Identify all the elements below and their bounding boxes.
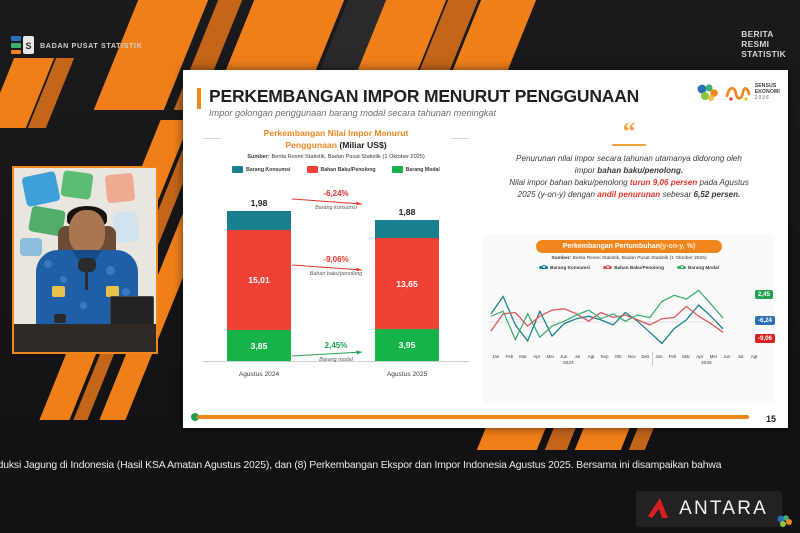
bar-chart-title-line1: Perkembangan Nilai Impor Menurut <box>264 128 409 138</box>
month-tick-label: Jan <box>489 354 503 359</box>
line-chart-panel: Perkembangan Pertumbuhan (y-on-y, %) Sum… <box>483 234 775 404</box>
legend-label: Barang Konsumsi <box>246 167 290 173</box>
bar-segment-bahan-baku: 15,01 <box>227 230 291 330</box>
month-ticks-2024: JanFebMarAprMeiJunJulAgtSepOktNovDes <box>489 354 652 359</box>
source-text: Berita Resmi Statistik, Badan Pusat Stat… <box>571 256 706 261</box>
month-tick-label: Feb <box>503 354 517 359</box>
series-line-barang-konsumsi <box>491 297 723 344</box>
insight-line-2a: impor <box>575 166 598 175</box>
legend-item-bahan-baku: Bahan Baku/Penolong <box>307 166 376 173</box>
arrow-down-icon <box>290 198 370 205</box>
month-tick-label: Jun <box>557 354 571 359</box>
month-tick-label: Feb <box>666 354 680 359</box>
bar-segment-barang-modal: 3,85 <box>227 330 291 361</box>
bar-chart-legend: Barang Konsumsi Bahan Baku/Penolong Bara… <box>197 166 475 173</box>
laptop <box>110 296 154 326</box>
month-tick-label: Nov <box>625 354 639 359</box>
ticker-text: oduksi Jagung di Indonesia (Hasil KSA Am… <box>0 460 800 471</box>
insight-text: Penurunan nilai impor secara tahunan uta… <box>483 153 775 202</box>
bar-segment-bahan-baku: 13,65 <box>375 238 439 329</box>
presentation-slide: PERKEMBANGAN IMPOR MENURUT PENGGUNAAN Im… <box>183 70 788 428</box>
insight-line-2b: bahan baku/penolong. <box>597 166 683 175</box>
insight-highlight-andil: andil penurunan <box>597 190 660 199</box>
quote-mark-icon: “ <box>483 122 775 142</box>
month-tick-label: Mei <box>543 354 557 359</box>
month-tick-label: Mar <box>516 354 530 359</box>
source-text: Berita Resmi Statistik, Badan Pusat Stat… <box>270 154 425 160</box>
wall-art <box>105 173 136 204</box>
line-chart-svg <box>489 278 725 352</box>
annotation-value: -9,06% <box>290 255 382 264</box>
speaker-video-thumbnail[interactable] <box>12 166 158 354</box>
wall-art <box>113 211 139 243</box>
insight-line-3b: pada Agustus <box>697 178 748 187</box>
se-year: 2026 <box>755 96 780 102</box>
speaker-head <box>69 210 105 254</box>
bar-segment-barang-modal: 3,95 <box>375 329 439 361</box>
legend-item-barang-konsumsi: Barang Konsumsi <box>232 166 290 173</box>
bar-chart-title-unit: (Miliar US$) <box>339 140 386 150</box>
legend-label: Barang Modal <box>406 167 440 173</box>
broadcast-frame: S BADAN PUSAT STATISTIK BERITA RESMI STA… <box>0 0 800 533</box>
shirt-pattern <box>122 288 130 296</box>
line-chart-title-plain: Perkembangan Pertumbuhan <box>563 243 660 250</box>
shirt-pattern <box>44 260 52 268</box>
legend-marker-icon <box>539 266 548 269</box>
bar-group-agustus-2024: 1,98 15,01 3,85 Agustus 2024 <box>227 211 291 361</box>
bps-wordmark: BADAN PUSAT STATISTIK <box>40 41 142 50</box>
shirt-pattern <box>60 276 67 283</box>
legend-item-barang-modal: Barang Modal <box>392 166 440 173</box>
wall-art <box>21 171 60 207</box>
annotation-value: -6,24% <box>290 189 382 198</box>
line-chart-source: Sumber: Berita Resmi Statistik, Badan Pu… <box>483 256 775 261</box>
annotation-caption: Bahan baku/penolong <box>290 271 382 277</box>
bps-logo-icon <box>695 82 721 104</box>
month-tick-label: Mar <box>679 354 693 359</box>
insight-line-4b: sebesar <box>660 190 693 199</box>
bar-segment-value: 15,01 <box>248 275 270 285</box>
annotation-value: 2,45% <box>290 341 382 350</box>
insight-line-1: Penurunan nilai impor secara tahunan uta… <box>516 154 742 163</box>
wristwatch <box>54 314 66 323</box>
bar-group-agustus-2025: 1,88 13,65 3,95 Agustus 2025 <box>375 220 439 361</box>
shirt-pattern <box>80 302 87 309</box>
slide-logo-group: SENSUS EKONOMI 2026 <box>695 82 780 104</box>
month-tick-label: Jun <box>720 354 734 359</box>
month-tick-row: JanFebMarAprMeiJunJulAgtSepOktNovDes Jan… <box>489 354 769 359</box>
bar-chart-panel: Perkembangan Nilai Impor Menurut Penggun… <box>197 128 475 410</box>
antara-watermark: ANTARA <box>636 491 782 527</box>
brs-line-3: STATISTIK <box>741 50 786 60</box>
bar-segment-barang-konsumsi <box>227 211 291 230</box>
annotation-caption: Barang konsumsi <box>290 205 382 211</box>
bar-chart-header: Perkembangan Nilai Impor Menurut Penggun… <box>197 128 475 173</box>
legend-label: Bahan Baku/Penolong <box>321 167 376 173</box>
month-tick-label: Apr <box>693 354 707 359</box>
annotation-bahan-baku: -9,06% Bahan baku/penolong <box>290 255 382 277</box>
annotation-barang-modal: 2,45% Barang modal <box>290 341 382 363</box>
bar-segment-value: 3,85 <box>251 341 268 351</box>
legend-label: Barang Modal <box>688 265 719 270</box>
channel-chip-icon <box>776 514 794 529</box>
legend-swatch-icon <box>307 166 318 173</box>
source-label: Sumber: <box>551 256 571 261</box>
title-accent-bar <box>197 88 201 109</box>
line-chart-legend: Barang Konsumsi Bahan Baku/Penolong Bara… <box>483 265 775 270</box>
legend-swatch-icon <box>392 166 403 173</box>
antara-wordmark: ANTARA <box>679 498 768 520</box>
legend-swatch-icon <box>232 166 243 173</box>
news-ticker: oduksi Jagung di Indonesia (Hasil KSA Am… <box>0 450 800 533</box>
svg-text:S: S <box>25 41 31 51</box>
shirt-pattern <box>106 266 115 275</box>
page-subtitle: Impor golongan penggunaan barang modal s… <box>209 108 496 118</box>
end-label-barang-modal: 2,45 <box>755 290 773 299</box>
bar-segment-value: 13,65 <box>396 279 418 289</box>
insight-line-4a: 2025 (y-on-y) dengan <box>518 190 598 199</box>
bar-segment-barang-konsumsi <box>375 220 439 238</box>
microphone-icon <box>78 258 96 272</box>
arrow-up-icon <box>290 350 370 357</box>
sensus-ekonomi-logo-icon <box>725 82 751 104</box>
legend-marker-icon <box>603 266 612 269</box>
month-tick-label: Apr <box>530 354 544 359</box>
bps-logo-icon: S <box>10 34 36 56</box>
month-tick-label: Des <box>639 354 653 359</box>
annotation-caption: Barang modal <box>290 357 382 363</box>
bar-category-label: Agustus 2024 <box>227 371 291 378</box>
series-line-bahan-baku <box>491 306 723 332</box>
bar-top-value: 1,98 <box>227 198 291 208</box>
bar-top-value: 1,88 <box>375 207 439 217</box>
month-tick-label: Jan <box>652 354 666 359</box>
uniform-badge <box>52 286 65 297</box>
bar-chart-source: Sumber: Berita Resmi Statistik, Badan Pu… <box>197 154 475 160</box>
line-chart-axis: JanFebMarAprMeiJunJulAgtSepOktNovDes Jan… <box>489 354 769 371</box>
footer-progress-bar <box>197 415 749 419</box>
source-label: Sumber: <box>247 154 270 160</box>
bar-chart-title-line2: Penggunaan <box>285 140 339 150</box>
legend-item-barang-modal: Barang Modal <box>677 265 719 270</box>
month-tick-label: Jul <box>571 354 585 359</box>
month-tick-label: Okt <box>611 354 625 359</box>
arrow-down-icon <box>290 264 370 271</box>
bar-segment-value: 3,95 <box>399 340 416 350</box>
bar-chart-title: Perkembangan Nilai Impor Menurut Penggun… <box>197 128 475 151</box>
legend-item-barang-konsumsi: Barang Konsumsi <box>539 265 590 270</box>
legend-label: Bahan Baku/Penolong <box>614 265 664 270</box>
month-tick-label: Agt <box>747 354 761 359</box>
line-chart-title: Perkembangan Pertumbuhan (y-on-y, %) <box>536 240 722 253</box>
page-title: PERKEMBANGAN IMPOR MENURUT PENGGUNAAN <box>209 86 639 107</box>
insight-line-3a: Nilai impor bahan baku/penolong <box>509 178 630 187</box>
year-label-2025: 2025 <box>701 361 712 366</box>
month-tick-label: Sep <box>598 354 612 359</box>
month-tick-label: Agt <box>584 354 598 359</box>
legend-label: Barang Konsumsi <box>550 265 590 270</box>
desk <box>14 324 158 354</box>
insight-line-4c: 6,52 persen. <box>694 190 741 199</box>
line-chart-title-accent: (y-on-y, %) <box>660 243 695 250</box>
header-rule-right <box>451 138 469 139</box>
header-rule-left <box>203 138 221 139</box>
brs-wordmark: BERITA RESMI STATISTIK <box>741 30 786 60</box>
end-label-barang-konsumsi: -6,24 <box>755 316 775 325</box>
insight-highlight-turun: turun 9,06 persen <box>630 178 697 187</box>
end-label-bahan-baku: -9,06 <box>755 334 775 343</box>
month-tick-label: Jul <box>734 354 748 359</box>
month-ticks-2025: JanFebMarAprMeiJunJulAgt <box>652 354 761 359</box>
slide-page-number: 15 <box>766 414 776 424</box>
legend-item-bahan-baku: Bahan Baku/Penolong <box>603 265 664 270</box>
wall-art <box>20 238 42 256</box>
bar-category-label: Agustus 2025 <box>375 371 439 378</box>
antara-logo-icon <box>646 496 672 522</box>
legend-marker-icon <box>677 266 686 269</box>
annotation-barang-konsumsi: -6,24% Barang konsumsi <box>290 189 382 211</box>
wall-art <box>60 170 93 200</box>
line-chart-plot: 2,45 -6,24 -9,06 <box>489 278 769 352</box>
year-label-2024: 2024 <box>563 361 574 366</box>
insight-panel: “ Penurunan nilai impor secara tahunan u… <box>483 122 775 412</box>
bar-chart-plot: 1,98 15,01 3,85 Agustus 2024 1,88 13,65 <box>197 183 475 383</box>
year-label-row: 2024 2025 <box>489 361 769 371</box>
month-tick-label: Mei <box>707 354 721 359</box>
sensus-ekonomi-wordmark: SENSUS EKONOMI 2026 <box>755 84 780 101</box>
